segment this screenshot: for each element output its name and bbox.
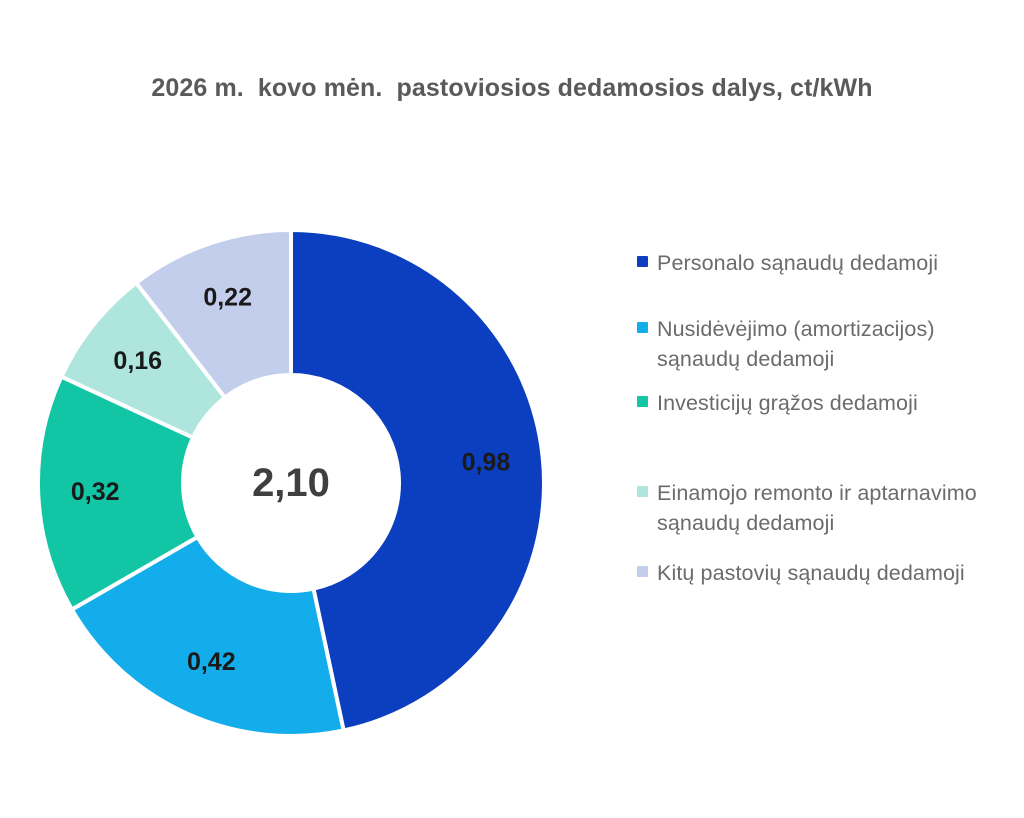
donut-slice-value-label: 0,98 [462, 449, 511, 477]
legend-color-swatch-icon [637, 322, 648, 333]
legend-color-swatch-icon [637, 396, 648, 407]
donut-chart-svg: 0,980,420,320,160,22 2,10 [0, 0, 620, 818]
donut-center-total: 2,10 [252, 461, 330, 505]
donut-slice-value-label: 0,42 [187, 648, 236, 676]
donut-slice-value-label: 0,16 [113, 347, 162, 375]
legend-item-label: Personalo sąnaudų dedamoji [657, 248, 938, 278]
legend-item[interactable]: Nusidėvėjimo (amortizacijos) sąnaudų ded… [637, 314, 997, 374]
legend-item[interactable]: Personalo sąnaudų dedamoji [637, 248, 997, 278]
legend-color-swatch-icon [637, 566, 648, 577]
legend-color-swatch-icon [637, 486, 648, 497]
donut-slice-value-label: 0,32 [71, 478, 120, 506]
legend-item-label: Investicijų grąžos dedamoji [657, 388, 918, 418]
donut-chart: 0,980,420,320,160,22 2,10 [0, 0, 620, 818]
legend-item[interactable]: Kitų pastovių sąnaudų dedamoji [637, 558, 997, 588]
legend-item-label: Kitų pastovių sąnaudų dedamoji [657, 558, 965, 588]
legend-item[interactable]: Investicijų grąžos dedamoji [637, 388, 997, 418]
legend-item-label: Nusidėvėjimo (amortizacijos) sąnaudų ded… [657, 314, 997, 374]
chart-legend: Personalo sąnaudų dedamojiNusidėvėjimo (… [637, 248, 997, 588]
legend-item[interactable]: Einamojo remonto ir aptarnavimo sąnaudų … [637, 478, 997, 538]
donut-slice-value-label: 0,22 [203, 284, 252, 312]
legend-item-label: Einamojo remonto ir aptarnavimo sąnaudų … [657, 478, 997, 538]
legend-color-swatch-icon [637, 256, 648, 267]
